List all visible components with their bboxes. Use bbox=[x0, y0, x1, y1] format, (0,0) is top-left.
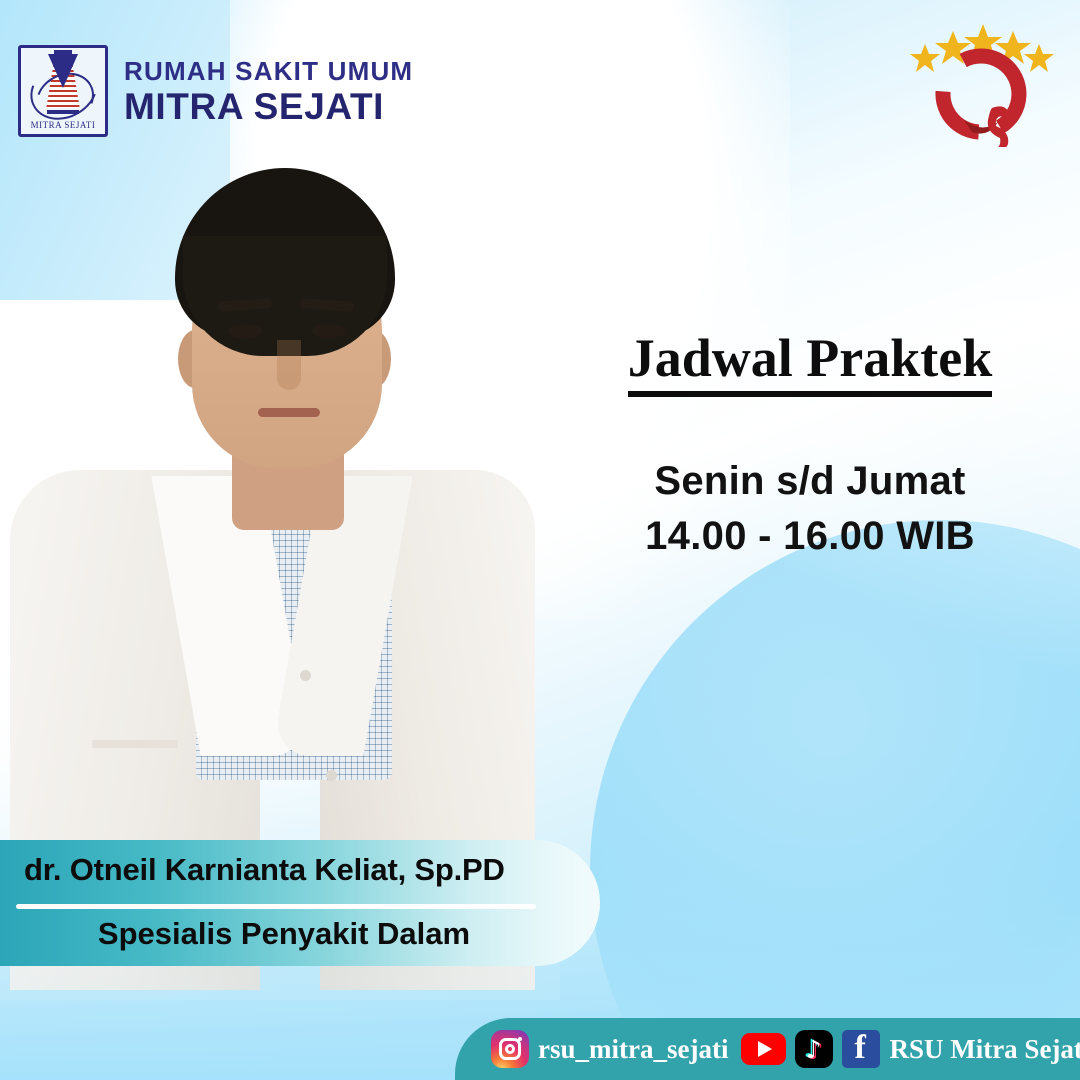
tiktok-note-white-icon: ♪ bbox=[805, 1037, 821, 1062]
kars-stars-icon bbox=[910, 24, 1054, 72]
schedule-block: Jadwal Praktek Senin s/d Jumat 14.00 - 1… bbox=[560, 330, 1060, 559]
eye-right bbox=[312, 324, 346, 338]
brand-line-1: RUMAH SAKIT UMUM bbox=[124, 58, 413, 84]
schedule-title: Jadwal Praktek bbox=[628, 330, 993, 397]
logo-triangle-cap-icon bbox=[54, 50, 72, 60]
brand-text: RUMAH SAKIT UMUM MITRA SEJATI bbox=[124, 58, 413, 125]
social-account-name[interactable]: RSU Mitra Sejati bbox=[889, 1034, 1080, 1065]
coat-pocket bbox=[92, 740, 178, 748]
doctor-portrait-photo bbox=[0, 140, 560, 900]
kars-accreditation-icon bbox=[908, 22, 1054, 147]
mouth bbox=[258, 408, 320, 417]
logo-mark-label: MITRA SEJATI bbox=[21, 120, 105, 130]
youtube-icon[interactable] bbox=[741, 1033, 786, 1065]
schedule-days: Senin s/d Jumat bbox=[560, 459, 1060, 504]
instagram-handle[interactable]: rsu_mitra_sejati bbox=[538, 1034, 728, 1065]
brand-line-2: MITRA SEJATI bbox=[124, 88, 413, 125]
hair-back bbox=[183, 236, 387, 356]
tiktok-icon[interactable]: ♪ ♪ ♪ bbox=[795, 1030, 833, 1068]
hospital-logo-mark-icon: MITRA SEJATI bbox=[18, 45, 108, 137]
facebook-icon[interactable] bbox=[842, 1030, 880, 1068]
doctor-specialty: Spesialis Penyakit Dalam bbox=[24, 916, 544, 952]
coat-button-2 bbox=[326, 770, 337, 781]
doctor-name: dr. Otneil Karnianta Keliat, Sp.PD bbox=[24, 852, 576, 888]
banner-divider bbox=[16, 904, 536, 909]
instagram-lens-dot-icon bbox=[518, 1037, 522, 1041]
instagram-icon[interactable] bbox=[491, 1030, 529, 1068]
coat-button-1 bbox=[300, 670, 311, 681]
social-media-bar: rsu_mitra_sejati ♪ ♪ ♪ RSU Mitra Sejati bbox=[455, 1018, 1080, 1080]
eye-left bbox=[228, 324, 262, 338]
schedule-time: 14.00 - 16.00 WIB bbox=[560, 514, 1060, 559]
logo-base-bar-icon bbox=[47, 110, 79, 114]
poster-canvas: MITRA SEJATI RUMAH SAKIT UMUM MITRA SEJA… bbox=[0, 0, 1080, 1080]
doctor-name-banner: dr. Otneil Karnianta Keliat, Sp.PD Spesi… bbox=[0, 840, 600, 966]
nose bbox=[277, 340, 301, 390]
hospital-brand: MITRA SEJATI RUMAH SAKIT UMUM MITRA SEJA… bbox=[18, 45, 413, 137]
